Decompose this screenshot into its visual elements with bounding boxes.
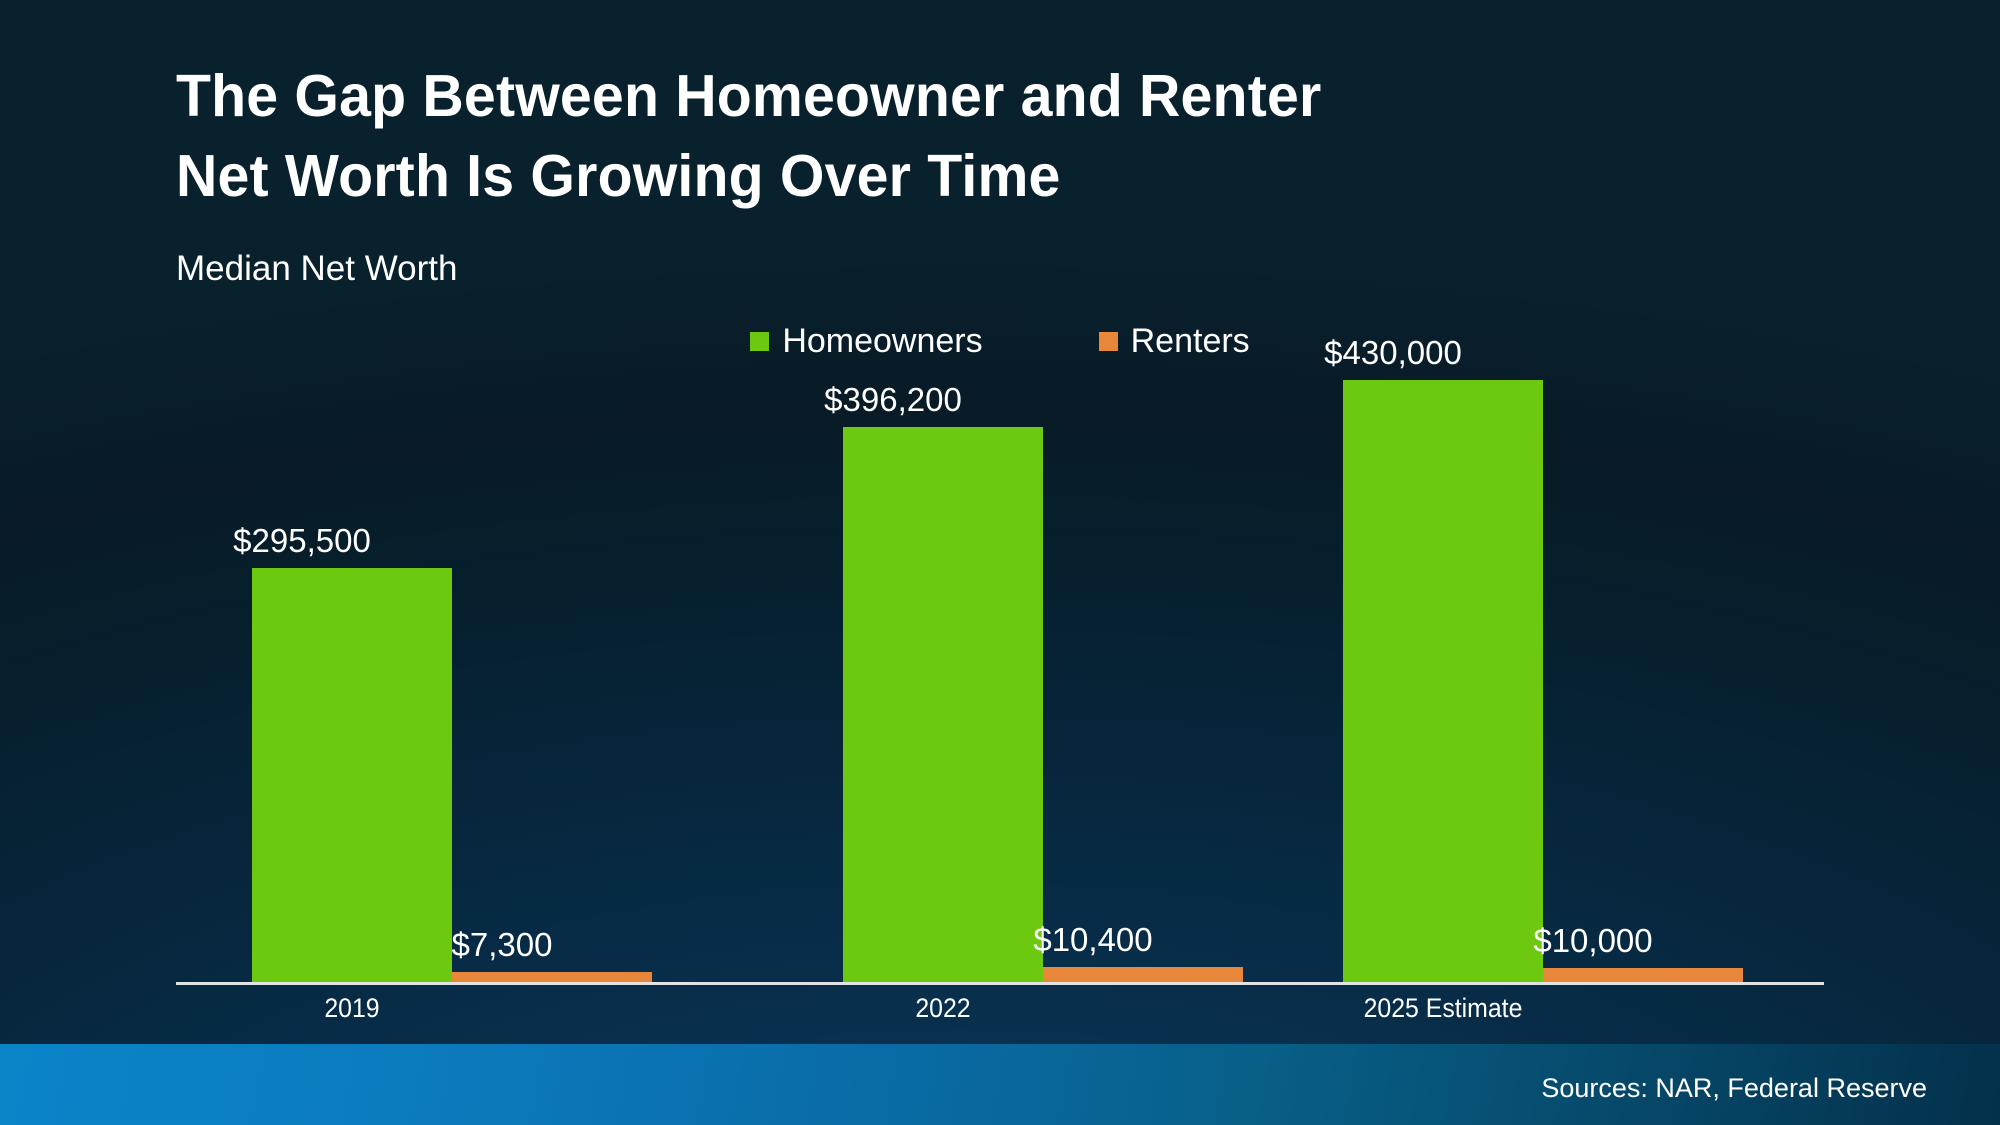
legend-label-renters: Renters [1131, 322, 1250, 360]
legend-item-renters[interactable]: Renters [1099, 322, 1250, 360]
bar-homeowners-2019[interactable] [252, 568, 452, 982]
chart-header: The Gap Between Homeowner and Renter Net… [176, 56, 1736, 216]
bar-value-label-homeowners-2025: $430,000 [1243, 334, 1543, 372]
legend-label-homeowners: Homeowners [782, 322, 982, 360]
chart-plot-area: $295,500 $7,300 2019 $396,200 $10,400 20… [176, 380, 1824, 985]
chart-legend: Homeowners Renters [0, 322, 2000, 360]
x-axis-label-2019: 2019 [168, 992, 536, 1024]
bar-value-label-homeowners-2022: $396,200 [743, 381, 1043, 419]
x-axis-label-2025-estimate: 2025 Estimate [1259, 992, 1627, 1024]
bar-renters-2022[interactable] [1043, 967, 1243, 982]
bar-renters-2019[interactable] [452, 972, 652, 982]
x-axis-label-2022: 2022 [759, 992, 1127, 1024]
legend-swatch-homeowners-icon [750, 332, 769, 351]
page-title-line-1: The Gap Between Homeowner and Renter [176, 56, 1689, 136]
bar-value-label-renters-2022: $10,400 [943, 921, 1243, 959]
legend-swatch-renters-icon [1099, 332, 1118, 351]
bar-value-label-renters-2019: $7,300 [352, 926, 652, 964]
legend-item-homeowners[interactable]: Homeowners [750, 322, 982, 360]
chart-subtitle: Median Net Worth [176, 248, 457, 290]
bar-homeowners-2022[interactable] [843, 427, 1043, 982]
bar-value-label-renters-2025: $10,000 [1443, 922, 1743, 960]
bar-renters-2025[interactable] [1543, 968, 1743, 982]
x-axis-line [176, 982, 1824, 985]
footer-sources-text: Sources: NAR, Federal Reserve [1541, 1072, 1927, 1104]
bar-homeowners-2025[interactable] [1343, 380, 1543, 982]
chart-slide: The Gap Between Homeowner and Renter Net… [0, 0, 2000, 1125]
page-title-line-2: Net Worth Is Growing Over Time [176, 136, 1689, 216]
footer-band: Sources: NAR, Federal Reserve [0, 1044, 2000, 1125]
bar-value-label-homeowners-2019: $295,500 [152, 522, 452, 560]
